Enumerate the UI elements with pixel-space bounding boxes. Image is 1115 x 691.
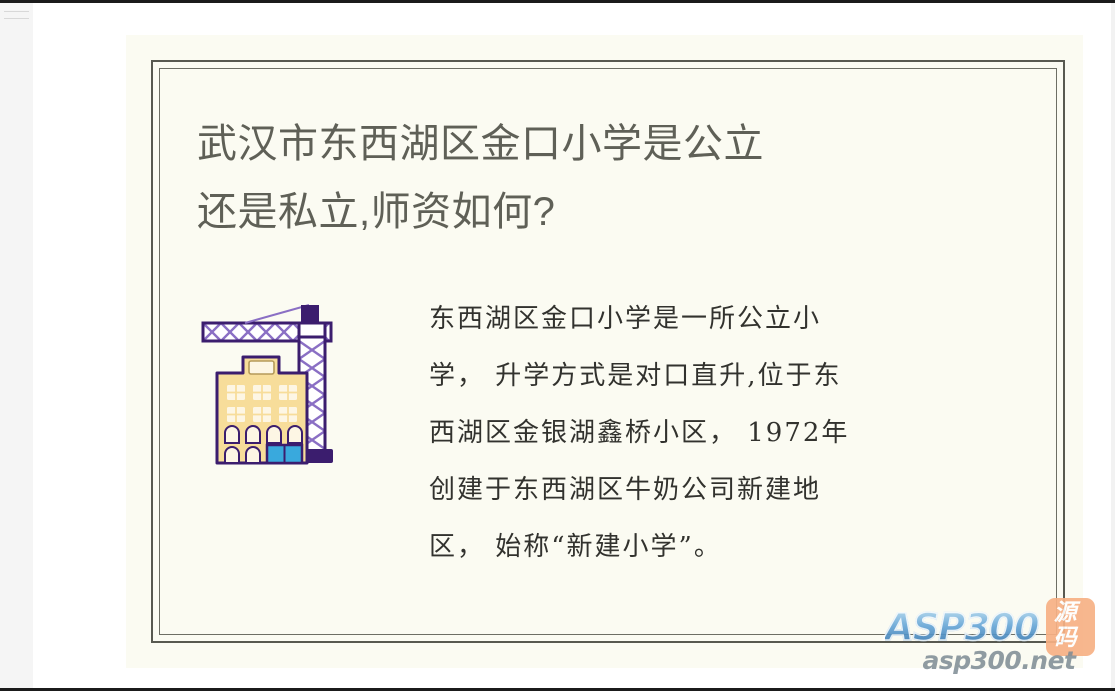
building-under-construction-icon <box>197 297 347 467</box>
left-gutter-strip <box>0 3 33 688</box>
article-content: 武汉市东西湖区金口小学是公立 还是私立,师资如何? <box>159 68 1057 635</box>
article-body-row: 东西湖区金口小学是一所公立小 学， 升学方式是对口直升,位于东 西湖区金银湖鑫桥… <box>197 291 1017 576</box>
right-gutter-strip <box>1111 3 1115 688</box>
gutter-cap-mark <box>4 11 29 19</box>
page-sheet: 武汉市东西湖区金口小学是公立 还是私立,师资如何? <box>33 3 1111 688</box>
article-body-text: 东西湖区金口小学是一所公立小 学， 升学方式是对口直升,位于东 西湖区金银湖鑫桥… <box>429 291 1017 576</box>
page-title: 武汉市东西湖区金口小学是公立 还是私立,师资如何? <box>197 110 937 246</box>
